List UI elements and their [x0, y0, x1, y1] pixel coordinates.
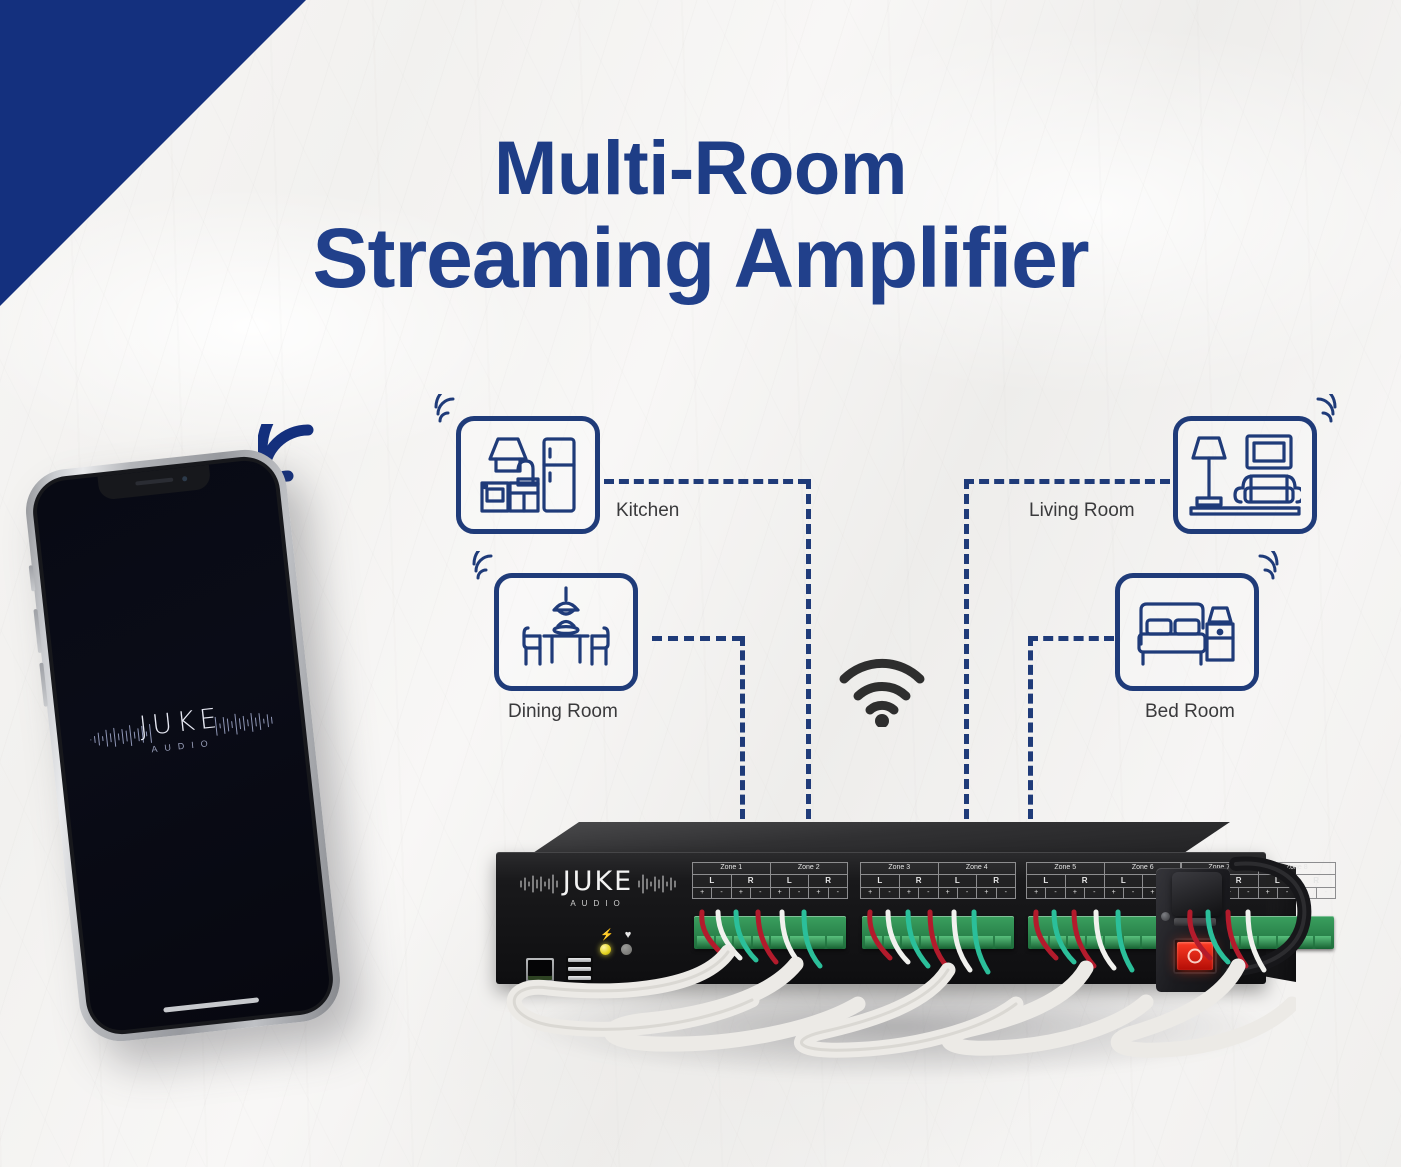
app-splash-logo: JUKE AUDIO	[84, 697, 278, 761]
channel-label: R	[1065, 875, 1104, 888]
channel-label: L	[770, 875, 809, 888]
connector-dining-vertical	[740, 636, 745, 819]
channel-label: L	[1104, 875, 1143, 888]
wifi-arc-icon-dining	[472, 551, 506, 581]
channel-label: L	[938, 875, 977, 888]
room-card-dining-room[interactable]: Dining Room	[494, 573, 638, 691]
dining-room-label: Dining Room	[508, 701, 618, 723]
zone-label: Zone 5	[1027, 863, 1105, 875]
wifi-signal-icon	[838, 655, 926, 727]
polarity-label: -	[1316, 887, 1335, 898]
channel-label: L	[693, 875, 732, 888]
streaming-amplifier-device[interactable]: JUKE AUDIO ⚡ ♥ Zone 1Zone 2 LRLR +-+-+-	[496, 822, 1296, 1072]
device-top-panel	[530, 822, 1230, 855]
zone-label: Zone 1	[693, 863, 771, 875]
room-card-kitchen[interactable]: Kitchen	[456, 416, 600, 534]
bed-room-label: Bed Room	[1145, 701, 1235, 723]
kitchen-box	[456, 416, 600, 534]
connector-kitchen-vertical	[806, 479, 811, 819]
living-room-label: Living Room	[1029, 500, 1135, 522]
speaker-wire-bundle	[496, 892, 1296, 1062]
channel-label: R	[731, 875, 770, 888]
zone-label: Zone 2	[770, 863, 848, 875]
bedroom-icon	[1133, 590, 1241, 674]
wifi-arc-icon-kitchen	[434, 394, 468, 424]
room-card-living-room[interactable]: Living Room	[1173, 416, 1317, 534]
connector-bed-horizontal	[1028, 636, 1114, 641]
channel-label: R	[899, 875, 938, 888]
zone-label: Zone 4	[938, 863, 1016, 875]
kitchen-icon	[474, 431, 582, 519]
connector-dining-horizontal	[652, 636, 742, 641]
waveform-icon-device	[518, 874, 678, 894]
phone-home-indicator[interactable]	[163, 997, 259, 1012]
kitchen-label: Kitchen	[616, 500, 679, 522]
dining-room-box	[494, 573, 638, 691]
wifi-arc-icon-bed	[1245, 551, 1279, 581]
channel-label: R	[977, 875, 1016, 888]
channel-label: L	[1027, 875, 1066, 888]
wifi-arc-icon-living	[1303, 394, 1337, 424]
connector-bed-vertical	[1028, 636, 1033, 819]
connector-living-horizontal	[964, 479, 1170, 484]
connector-living-vertical	[964, 479, 969, 819]
living-room-box	[1173, 416, 1317, 534]
room-card-bed-room[interactable]: Bed Room	[1115, 573, 1259, 691]
channel-label: L	[861, 875, 900, 888]
zone-label: Zone 3	[861, 863, 939, 875]
bed-room-box	[1115, 573, 1259, 691]
connector-kitchen-horizontal	[604, 479, 808, 484]
living-room-icon	[1189, 430, 1301, 520]
dining-room-icon	[514, 586, 618, 678]
channel-label: R	[809, 875, 848, 888]
